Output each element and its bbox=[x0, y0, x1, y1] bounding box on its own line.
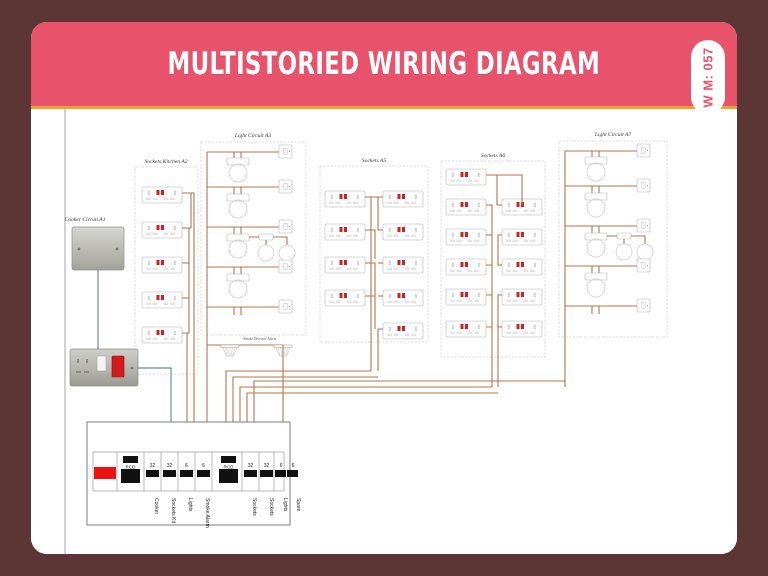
socket-outlet bbox=[502, 259, 542, 275]
mcb-rating-sockets-1: 32 bbox=[248, 463, 254, 469]
mcb-rating-spare: 6 bbox=[292, 463, 295, 469]
cable-cooker-to-board bbox=[138, 368, 171, 422]
distribution-bus bbox=[226, 364, 565, 422]
way-label-smoke-alarm: Smoke Alarm bbox=[204, 498, 210, 528]
socket-outlet bbox=[325, 224, 365, 240]
section-label-a3: Light Circuit A3 bbox=[234, 133, 272, 139]
section-label-a1: Cooker Circuit A1 bbox=[64, 217, 105, 223]
light-switch bbox=[637, 144, 650, 157]
mcb-rating-lights-1: 6 bbox=[185, 463, 188, 469]
cable-light-a3-3 bbox=[207, 187, 279, 227]
section-box-a7 bbox=[559, 141, 667, 337]
socket-outlet bbox=[142, 257, 182, 273]
consumer-unit: RCD 32 32 6 6 bbox=[87, 422, 301, 528]
way-label-lights-1: Lights bbox=[187, 498, 193, 512]
cable-light-a3-2 bbox=[207, 152, 279, 187]
mcb-rating-sockets-2: 32 bbox=[264, 463, 270, 469]
way-label-sockets-2: Sockets bbox=[268, 498, 274, 516]
socket-outlet bbox=[383, 224, 423, 240]
screenshot-root: MULTISTORIED WIRING DIAGRAM W M: 057 bbox=[0, 0, 768, 576]
socket-outlet bbox=[142, 187, 182, 203]
light-switch bbox=[637, 179, 650, 192]
socket-outlet bbox=[383, 323, 423, 339]
cooker-outlet-plate bbox=[72, 227, 124, 270]
junction-box bbox=[259, 234, 273, 240]
wiring-diagram-canvas: Sockets Kitchen A2 Light Circuit A3 Sock… bbox=[31, 109, 737, 554]
light-switch bbox=[279, 260, 292, 273]
rcd-device: RCD bbox=[219, 456, 238, 483]
socket-outlet bbox=[383, 290, 423, 306]
mcb-rating-sockets-kit: 32 bbox=[167, 463, 173, 469]
socket-outlet bbox=[325, 290, 365, 306]
wiring-diagram-svg: Sockets Kitchen A2 Light Circuit A3 Sock… bbox=[31, 109, 737, 554]
section-label-a2: Sockets Kitchen A2 bbox=[144, 159, 187, 165]
section-label-a7: Light Circuit A7 bbox=[594, 132, 632, 138]
way-label-cooker: Cooker bbox=[153, 498, 159, 514]
mcb-rating-lights-2: 6 bbox=[280, 463, 283, 469]
worksheet-badge: W M: 057 bbox=[691, 40, 725, 114]
light-circuit-a7-group bbox=[565, 144, 653, 387]
rcd-label-2: RCD bbox=[224, 465, 235, 470]
socket-outlet bbox=[383, 257, 423, 273]
socket-outlet bbox=[446, 259, 486, 275]
worksheet-badge-label: W M: 057 bbox=[701, 47, 716, 107]
sockets-a5-group bbox=[325, 191, 423, 371]
ceiling-rose bbox=[227, 158, 249, 182]
lamp bbox=[258, 245, 274, 261]
light-switch bbox=[279, 180, 292, 193]
light-switch bbox=[279, 145, 292, 158]
ceiling-rose bbox=[227, 194, 249, 218]
ceiling-rose bbox=[227, 274, 249, 298]
light-switch bbox=[279, 300, 292, 313]
socket-outlet bbox=[446, 199, 486, 215]
cable-light-a3-5 bbox=[207, 267, 279, 307]
section-label-a6: Sockets A6 bbox=[481, 153, 505, 159]
mcb-rating-cooker: 32 bbox=[150, 463, 156, 469]
mcb-rating-smoke: 6 bbox=[202, 463, 205, 469]
socket-outlet bbox=[502, 289, 542, 305]
main-switch bbox=[94, 467, 116, 479]
way-label-sockets-1: Sockets bbox=[251, 498, 257, 516]
lamp bbox=[279, 245, 295, 261]
page-title: MULTISTORIED WIRING DIAGRAM bbox=[168, 46, 601, 82]
lamp bbox=[616, 244, 632, 260]
socket-outlet bbox=[142, 327, 182, 343]
socket-outlet bbox=[446, 169, 486, 185]
socket-outlet bbox=[325, 257, 365, 273]
socket-outlet bbox=[325, 191, 365, 207]
socket-outlet bbox=[502, 229, 542, 245]
socket-outlet bbox=[446, 289, 486, 305]
way-label-lights-2: Lights bbox=[282, 498, 288, 512]
light-switch bbox=[279, 220, 292, 233]
smoke-detector bbox=[221, 345, 239, 356]
ceiling-rose bbox=[227, 234, 249, 258]
socket-outlet bbox=[446, 229, 486, 245]
ceiling-rose bbox=[585, 273, 607, 297]
rcd-device: RCD bbox=[121, 456, 140, 483]
light-switch bbox=[637, 219, 650, 232]
section-label-a5: Sockets A5 bbox=[362, 158, 386, 164]
socket-outlet bbox=[142, 222, 182, 238]
light-switch bbox=[637, 299, 650, 312]
title-banner: MULTISTORIED WIRING DIAGRAM bbox=[31, 22, 737, 106]
section-label-smoke: Smoke Detector Alarm bbox=[244, 337, 277, 341]
diagram-sheet: MULTISTORIED WIRING DIAGRAM W M: 057 bbox=[31, 22, 737, 554]
lamp bbox=[637, 244, 653, 260]
sockets-kitchen-a2-group bbox=[142, 187, 194, 422]
cooker-switch-unit bbox=[70, 349, 138, 386]
socket-outlet bbox=[142, 292, 182, 308]
sockets-a6-group bbox=[446, 169, 542, 387]
socket-outlet bbox=[446, 321, 486, 337]
socket-outlet bbox=[502, 321, 542, 337]
cooker-circuit-group bbox=[70, 227, 171, 422]
smoke-alarm-group bbox=[207, 345, 292, 364]
way-label-sockets-kit: Sockets Kit bbox=[170, 498, 176, 524]
junction-box bbox=[617, 233, 631, 239]
ring-main-a2 bbox=[182, 193, 194, 422]
rcd-label-1: RCD bbox=[126, 465, 137, 470]
ceiling-rose bbox=[585, 233, 607, 257]
ring-main-a5 bbox=[365, 197, 383, 371]
socket-outlet bbox=[383, 191, 423, 207]
ceiling-rose bbox=[585, 157, 607, 181]
light-switch bbox=[637, 259, 650, 272]
ceiling-rose bbox=[585, 193, 607, 217]
way-label-spare: Spare bbox=[295, 498, 301, 512]
